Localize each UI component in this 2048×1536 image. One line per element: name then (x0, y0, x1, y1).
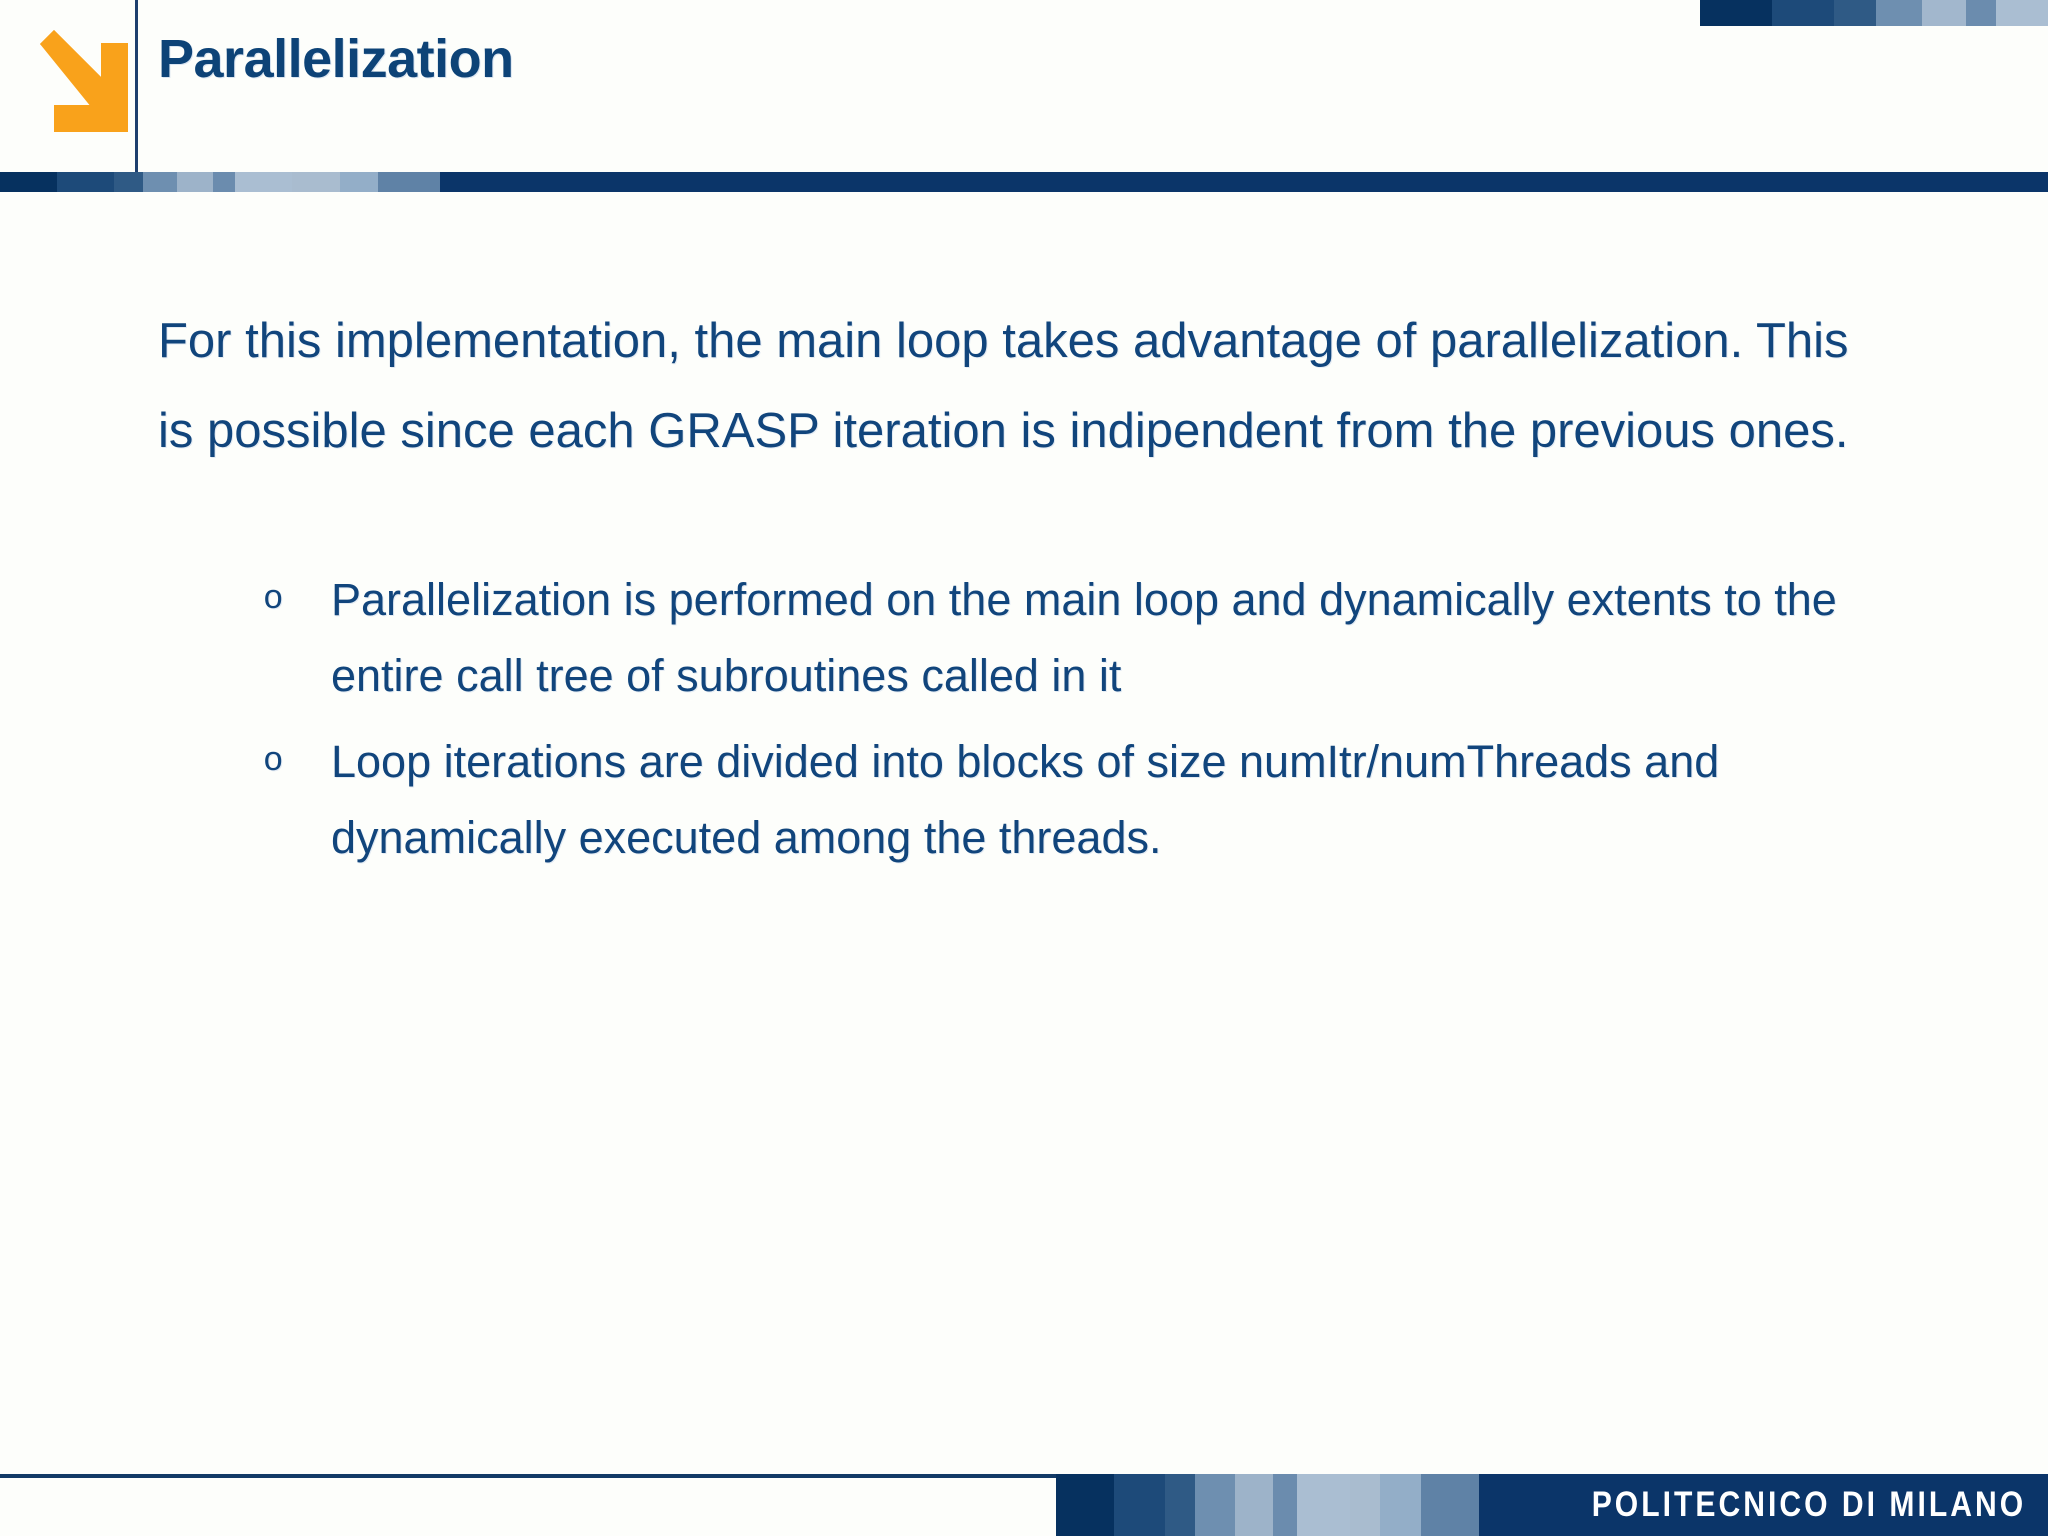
page-title: Parallelization (158, 28, 514, 90)
list-item: o Parallelization is performed on the ma… (258, 562, 1898, 714)
slide-body: For this implementation, the main loop t… (0, 192, 2048, 1475)
decorative-block (1380, 1474, 1421, 1536)
decorative-block (1297, 1474, 1350, 1536)
decorative-block (1996, 0, 2048, 26)
decorative-block (1235, 1474, 1273, 1536)
list-item-label: Loop iterations are divided into blocks … (331, 736, 1719, 863)
orange-diagonal-arrow-icon (18, 14, 128, 132)
list-item-label: Parallelization is performed on the main… (331, 574, 1837, 701)
brand-label: POLITECNICO DI MILANO (1592, 1485, 2026, 1525)
decorative-block (0, 172, 57, 192)
decorative-block (1195, 1474, 1235, 1536)
header-vertical-rule (135, 0, 138, 172)
hollow-circle-bullet-icon: o (263, 562, 283, 638)
decorative-block (1056, 1474, 1114, 1536)
decorative-block (1834, 0, 1876, 26)
footer-brand-panel: POLITECNICO DI MILANO (1479, 1474, 2048, 1536)
decorative-block (57, 172, 114, 192)
decorative-block (143, 172, 177, 192)
presentation-slide: Parallelization For this implementation,… (0, 0, 2048, 1536)
decorative-block (235, 172, 292, 192)
decorative-block (1876, 0, 1922, 26)
footer-rule (0, 1474, 1056, 1478)
header-divider-band (0, 172, 2048, 192)
decorative-block (1350, 1474, 1380, 1536)
decorative-block (1273, 1474, 1297, 1536)
decorative-block (1922, 0, 1966, 26)
decorative-block (1114, 1474, 1165, 1536)
decorative-block (1700, 0, 1772, 26)
decorative-block (292, 172, 340, 192)
top-right-decorative-band (1700, 0, 2048, 26)
decorative-block (1421, 1474, 1479, 1536)
decorative-block (177, 172, 213, 192)
hollow-circle-bullet-icon: o (263, 724, 283, 800)
bullet-list: o Parallelization is performed on the ma… (258, 562, 1898, 886)
decorative-block (1966, 0, 1996, 26)
list-item: o Loop iterations are divided into block… (258, 724, 1898, 876)
decorative-block (378, 172, 440, 192)
decorative-block (340, 172, 378, 192)
divider-fill (440, 172, 2048, 192)
decorative-block (114, 172, 143, 192)
decorative-block (1165, 1474, 1195, 1536)
decorative-block (213, 172, 235, 192)
slide-footer: POLITECNICO DI MILANO (1056, 1474, 2048, 1536)
slide-header: Parallelization (0, 0, 2048, 172)
intro-paragraph: For this implementation, the main loop t… (158, 296, 1858, 476)
decorative-block (1772, 0, 1834, 26)
